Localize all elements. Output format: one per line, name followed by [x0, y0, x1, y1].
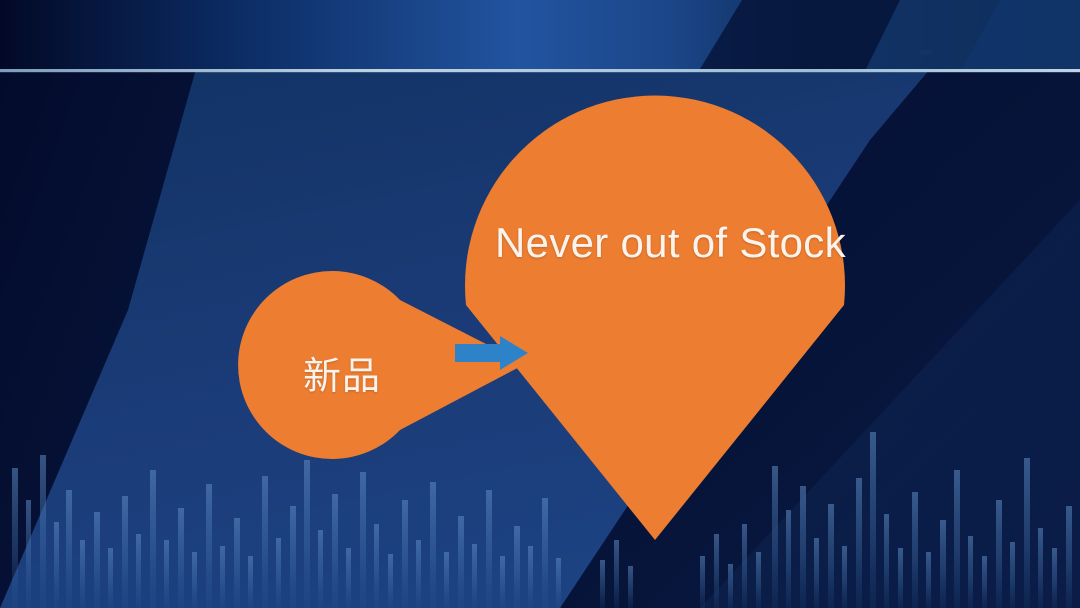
top-band	[0, 0, 1080, 69]
header-divider	[0, 69, 1080, 72]
watermark-text: ...	[920, 44, 932, 56]
presentation-slide: Never out of Stock 新品 ...	[0, 0, 1080, 608]
slide-background	[0, 0, 1080, 608]
small-teardrop-label: 新品	[303, 345, 381, 400]
main-teardrop-label: Never out of Stock	[495, 219, 846, 267]
